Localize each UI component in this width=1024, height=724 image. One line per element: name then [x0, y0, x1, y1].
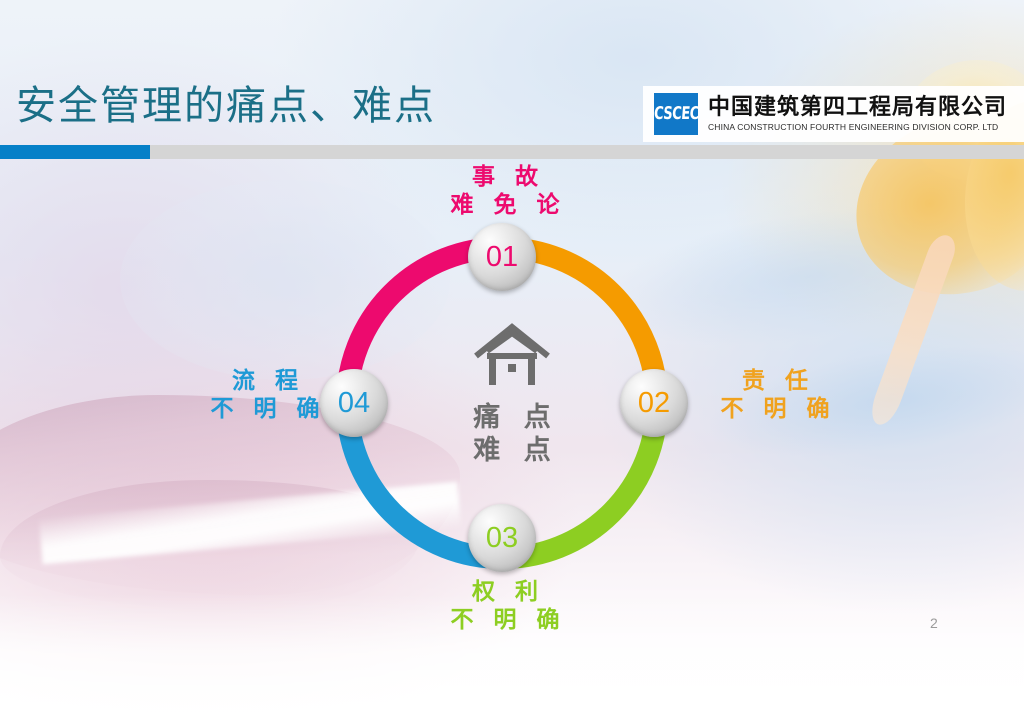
house-icon: [470, 320, 554, 390]
company-name-en: CHINA CONSTRUCTION FOURTH ENGINEERING DI…: [708, 122, 1007, 132]
cscec-logo-icon: CSCEC: [654, 93, 698, 135]
cycle-node-02[interactable]: 02: [620, 369, 688, 437]
cycle-label-03: 权 利 不 明 确: [425, 578, 585, 634]
cycle-label-01: 事 故 难 免 论: [425, 163, 585, 219]
cycle-label-01-line1: 事 故: [425, 163, 585, 191]
page-title: 安全管理的痛点、难点: [16, 86, 436, 126]
company-name-cn: 中国建筑第四工程局有限公司: [708, 96, 1007, 119]
divider-track-segment: [150, 145, 1024, 159]
diagram-center: 痛 点 难 点: [432, 320, 592, 468]
cscec-logo-monogram: CSCEC: [653, 105, 699, 123]
cycle-label-03-line1: 权 利: [425, 578, 585, 606]
cycle-node-01[interactable]: 01: [468, 223, 536, 291]
center-label-line1: 痛 点: [432, 402, 592, 435]
company-logo-text: 中国建筑第四工程局有限公司 CHINA CONSTRUCTION FOURTH …: [708, 96, 1007, 131]
company-logo: CSCEC 中国建筑第四工程局有限公司 CHINA CONSTRUCTION F…: [643, 86, 1024, 142]
cycle-label-02-line2: 不 明 确: [690, 395, 860, 423]
cycle-label-01-line2: 难 免 论: [425, 191, 585, 219]
header-divider: [0, 145, 1024, 159]
cycle-label-04-line1: 流 程: [185, 367, 345, 395]
cycle-label-02: 责 任 不 明 确: [690, 367, 860, 423]
cycle-node-03[interactable]: 03: [468, 504, 536, 572]
cycle-label-02-line1: 责 任: [690, 367, 860, 395]
cycle-label-04: 流 程 不 明 确: [185, 367, 345, 423]
center-label-line2: 难 点: [432, 435, 592, 468]
background-peach-stem: [866, 232, 960, 427]
cycle-label-04-line2: 不 明 确: [185, 395, 345, 423]
slide-canvas: 安全管理的痛点、难点 CSCEC 中国建筑第四工程局有限公司 CHINA CON…: [0, 0, 1024, 724]
cycle-label-03-line2: 不 明 确: [425, 606, 585, 634]
divider-accent-segment: [0, 145, 150, 159]
page-number: 2: [930, 615, 938, 631]
